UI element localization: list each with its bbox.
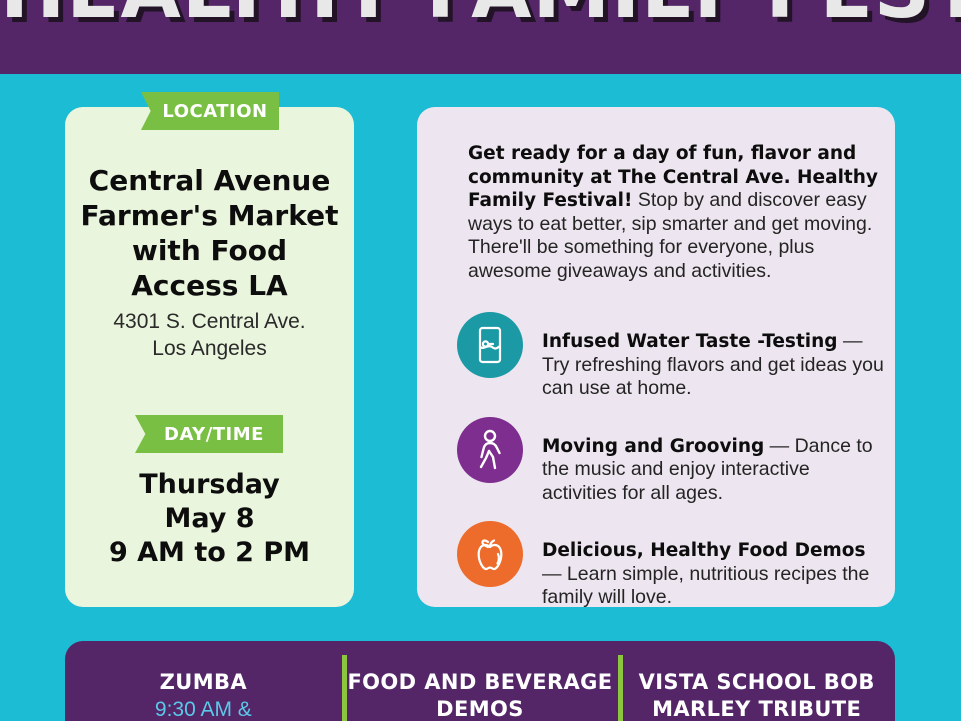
venue-name: Central Avenue Farmer's Market with Food…	[80, 163, 339, 303]
feature-list: Infused Water Taste -Testing — Try refre…	[457, 312, 887, 626]
venue-address-line-2: Los Angeles	[80, 335, 339, 362]
schedule-title-vista-school: VISTA SCHOOL BOB MARLEY TRIBUTE	[618, 669, 895, 721]
apple-icon	[457, 521, 523, 587]
event-daytime: Thursday May 8 9 AM to 2 PM	[80, 468, 339, 570]
water-glass-icon	[457, 312, 523, 378]
walking-person-icon	[457, 417, 523, 483]
schedule-bar: ZUMBA 9:30 AM & FOOD AND BEVERAGE DEMOS …	[65, 641, 895, 721]
feature-desc-food-demos: — Learn simple, nutritious recipes the f…	[542, 563, 869, 609]
venue-address: 4301 S. Central Ave. Los Angeles	[80, 308, 339, 362]
intro-paragraph: Get ready for a day of fun, flavor and c…	[468, 142, 880, 283]
feature-text-infused-water: Infused Water Taste -Testing — Try refre…	[542, 312, 887, 401]
feature-text-moving-grooving: Moving and Grooving — Dance to the music…	[542, 417, 887, 506]
feature-item-food-demos: Delicious, Healthy Food Demos — Learn si…	[457, 521, 887, 610]
schedule-column-food-demos: FOOD AND BEVERAGE DEMOS	[342, 641, 619, 721]
feature-title-infused-water: Infused Water Taste -Testing	[542, 331, 838, 352]
event-day: Thursday	[80, 468, 339, 502]
venue-address-line-1: 4301 S. Central Ave.	[80, 308, 339, 335]
daytime-ribbon-label: DAY/TIME	[135, 415, 283, 453]
page-title: HEALTHY FAMILY FESTIVAL	[0, 0, 961, 30]
feature-item-moving-grooving: Moving and Grooving — Dance to the music…	[457, 417, 887, 506]
schedule-title-food-demos: FOOD AND BEVERAGE DEMOS	[342, 669, 619, 721]
event-date: May 8	[80, 502, 339, 536]
feature-text-food-demos: Delicious, Healthy Food Demos — Learn si…	[542, 521, 887, 610]
schedule-time-zumba: 9:30 AM &	[65, 696, 342, 721]
feature-item-infused-water: Infused Water Taste -Testing — Try refre…	[457, 312, 887, 401]
feature-title-food-demos: Delicious, Healthy Food Demos	[542, 540, 866, 561]
schedule-title-zumba: ZUMBA	[65, 669, 342, 696]
schedule-column-vista-school: VISTA SCHOOL BOB MARLEY TRIBUTE	[618, 641, 895, 721]
location-ribbon-label: LOCATION	[141, 92, 279, 130]
event-hours: 9 AM to 2 PM	[80, 536, 339, 570]
feature-title-moving-grooving: Moving and Grooving	[542, 436, 764, 457]
page-header: HEALTHY FAMILY FESTIVAL	[0, 0, 961, 74]
schedule-column-zumba: ZUMBA 9:30 AM &	[65, 641, 342, 721]
